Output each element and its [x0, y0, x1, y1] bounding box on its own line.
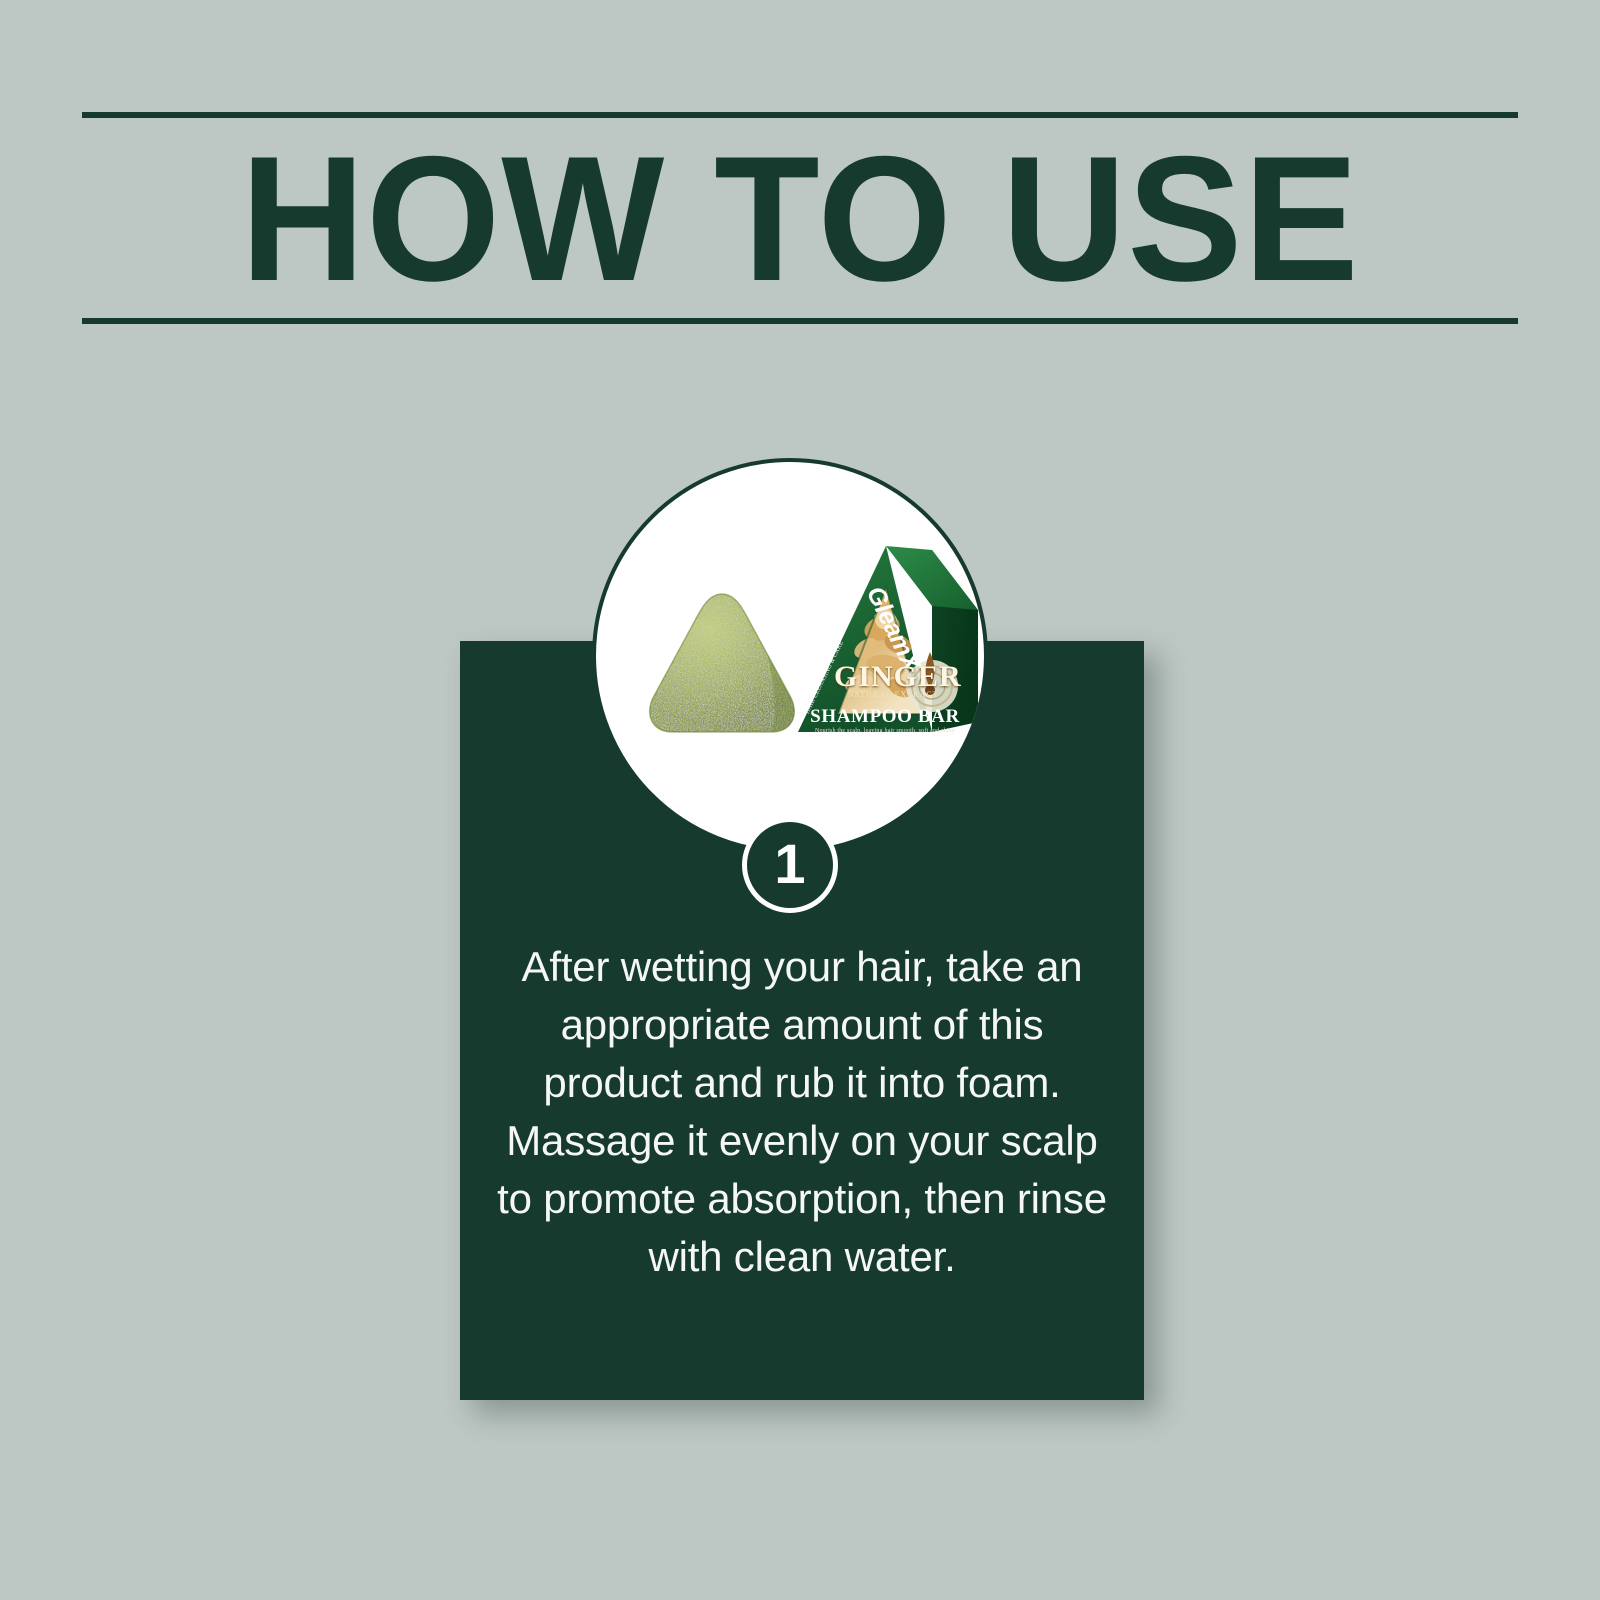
- header-block: HOW TO USE: [82, 112, 1518, 324]
- step-number-badge: 1: [742, 817, 838, 913]
- header-rule-bottom: [82, 318, 1518, 324]
- step-body-text: After wetting your hair, take an appropr…: [490, 938, 1114, 1286]
- product-image-medallion: GleamX Hair Follicles Revitalizing HAIR …: [592, 458, 988, 854]
- shampoo-bar-image: [640, 588, 804, 738]
- page-title: HOW TO USE: [104, 118, 1497, 318]
- step-number-label: 1: [774, 836, 805, 892]
- step-body: After wetting your hair, take an appropr…: [490, 938, 1114, 1286]
- product-stage: GleamX Hair Follicles Revitalizing HAIR …: [596, 462, 984, 850]
- how-to-use-poster: HOW TO USE: [0, 0, 1600, 1600]
- product-package-image: GleamX Hair Follicles Revitalizing HAIR …: [782, 536, 988, 752]
